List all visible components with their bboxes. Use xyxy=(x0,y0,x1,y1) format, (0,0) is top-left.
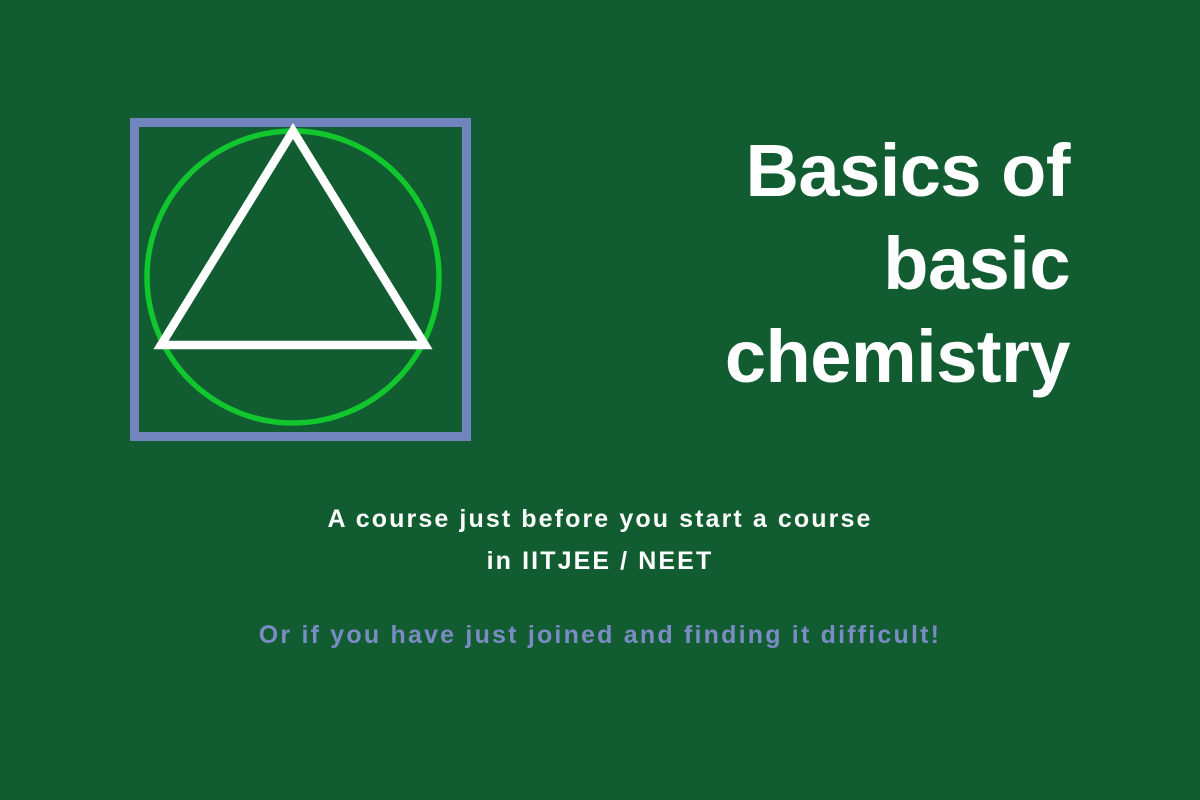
square-frame-shape xyxy=(135,123,467,437)
title-line-2: basic xyxy=(550,217,1070,310)
title-line-3: chemistry xyxy=(550,310,1070,403)
subtitle-line-1: A course just before you start a course xyxy=(0,498,1200,540)
subtitle-line-2: in IITJEE / NEET xyxy=(0,540,1200,582)
logo-emblem xyxy=(118,106,468,451)
course-title-slide: Basics of basic chemistry A course just … xyxy=(0,0,1200,800)
title-line-1: Basics of xyxy=(550,124,1070,217)
subtitle: A course just before you start a course … xyxy=(0,498,1200,582)
green-circle-shape xyxy=(147,131,439,423)
page-title: Basics of basic chemistry xyxy=(550,124,1070,403)
tagline: Or if you have just joined and finding i… xyxy=(0,615,1200,655)
tagline-text: Or if you have just joined and finding i… xyxy=(0,615,1200,655)
